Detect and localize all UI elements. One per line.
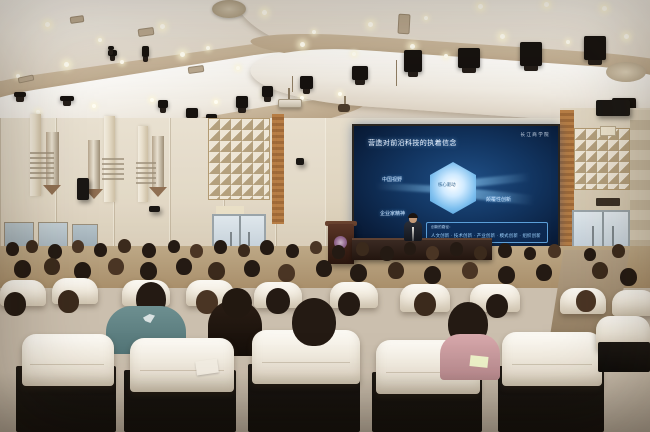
attendee-head [58, 290, 79, 313]
attendee-head [524, 247, 536, 260]
attendee-head [244, 260, 260, 277]
seat-base [598, 342, 650, 372]
auditorium-seat[interactable] [612, 290, 650, 316]
fabric-crease [262, 362, 350, 363]
callout-heading: 创新的路径： [431, 225, 453, 230]
attendee-head [584, 248, 596, 261]
fabric-crease [512, 364, 592, 365]
attendee-head [26, 240, 38, 253]
recessed-downlight [338, 92, 342, 96]
recessed-downlight [300, 42, 305, 47]
stage-spotlight [14, 92, 26, 97]
attendee-head [404, 242, 416, 255]
stage-spotlight [458, 48, 480, 68]
stage-spotlight [158, 100, 168, 108]
auditorium-photo: 营造对前沿科技的执着信念 长江商学院 核心驱动 中国视野 企业家精神 颠覆性创新… [0, 0, 650, 432]
pyramid-acoustic-panel [208, 118, 270, 200]
ceiling [0, 0, 650, 135]
attendee-head [6, 242, 19, 256]
stage-spotlight [236, 96, 248, 108]
recessed-downlight [624, 34, 629, 39]
ceiling-vent [397, 14, 410, 35]
attendee-head [462, 262, 478, 279]
attendee-head [316, 260, 332, 277]
stage-spotlight [352, 66, 368, 80]
attendee-head [260, 240, 274, 255]
auditorium-seat[interactable] [22, 334, 114, 386]
wall-sign-plate [600, 126, 616, 136]
attendee-head [414, 292, 436, 316]
attendee-head [498, 266, 515, 284]
slide-title: 营造对前沿科技的执着信念 [368, 138, 457, 148]
recessed-downlight [160, 24, 165, 29]
attendee-head [388, 262, 404, 279]
hexagon-core-graphic [430, 162, 476, 214]
handout-paper [469, 355, 488, 368]
stage-spotlight [186, 108, 198, 118]
attendee-head [292, 298, 336, 346]
recessed-downlight [180, 52, 185, 57]
attendee-head [474, 246, 487, 260]
recessed-downlight [424, 16, 428, 20]
wall-stripe-detail [30, 152, 54, 182]
auditorium-seat[interactable] [130, 338, 234, 392]
ceiling-projector [278, 99, 302, 108]
attendee-head [620, 268, 637, 286]
attendee-head [168, 240, 180, 253]
attendee-head [380, 246, 394, 261]
wall-sconce [88, 140, 100, 190]
light-hanger-rod [292, 76, 293, 92]
attendee-head [238, 244, 250, 257]
hex-label-top-left: 中国视野 [382, 176, 402, 183]
attendee-head [332, 245, 345, 259]
recessed-downlight [478, 4, 483, 9]
attendee-head [48, 244, 62, 259]
wood-slat-column [272, 114, 284, 224]
stage-spotlight [520, 42, 542, 66]
attendee-head [208, 262, 225, 280]
recessed-downlight [544, 2, 549, 7]
recessed-downlight [45, 22, 50, 27]
attendee-head [536, 264, 552, 281]
attendee-head [176, 258, 192, 275]
attendee-head [108, 258, 124, 275]
exit-sign [596, 198, 620, 206]
ceiling-speaker-grille [212, 0, 246, 18]
light-ray [472, 173, 531, 187]
attendee-head [424, 266, 441, 284]
stage-spotlight [60, 96, 74, 101]
stage-spotlight [300, 76, 313, 89]
recessed-downlight [64, 62, 69, 67]
wall-loudspeaker [149, 206, 160, 212]
slide-logo: 长江商学院 [521, 132, 551, 138]
recessed-downlight [120, 60, 124, 64]
attendee-head [222, 288, 252, 318]
attendee-head [356, 242, 369, 256]
attendee-head [44, 258, 60, 275]
recessed-downlight [92, 104, 96, 108]
wall-stripe-detail [102, 158, 124, 183]
recessed-downlight [262, 10, 267, 15]
attendee-head [426, 246, 439, 260]
stage-spotlight [142, 46, 149, 57]
ceiling-speaker-grille [606, 62, 646, 82]
recessed-downlight [444, 54, 448, 58]
fabric-crease [30, 364, 104, 365]
recessed-downlight [206, 46, 210, 50]
attendee-head [278, 264, 295, 282]
recessed-downlight [236, 66, 240, 70]
attendee-head [72, 240, 84, 253]
recessed-downlight [98, 38, 102, 42]
recessed-downlight [312, 30, 316, 34]
projection-screen[interactable]: 营造对前沿科技的执着信念 长江商学院 核心驱动 中国视野 企业家精神 颠覆性创新… [352, 124, 560, 250]
light-hanger-rod [396, 60, 397, 86]
hex-label-bottom-left: 企业家精神 [380, 210, 405, 217]
recessed-downlight [368, 22, 373, 27]
attendee-head [486, 294, 508, 318]
pyramid-acoustic-panel [574, 128, 630, 190]
attendee-head [142, 243, 156, 258]
attendee-head [548, 244, 561, 258]
stage-spotlight [584, 36, 606, 60]
recessed-downlight [150, 98, 154, 102]
attendee-head [498, 243, 512, 258]
attendee-head [266, 288, 290, 314]
attendee-head [576, 290, 596, 312]
attendee-head [190, 244, 203, 258]
light-ray [376, 183, 432, 193]
wall-loudspeaker [596, 100, 630, 116]
attendee-head [350, 264, 367, 282]
door-sign-plate [216, 206, 244, 214]
wall-loudspeaker [296, 158, 304, 165]
hex-label-right: 颠覆性创新 [486, 196, 511, 203]
presenter-hair [408, 213, 418, 218]
attendee-head [94, 243, 107, 257]
recessed-downlight [602, 6, 607, 11]
attendee-head [592, 262, 608, 279]
audience-area [0, 238, 650, 432]
attendee-head [140, 262, 157, 280]
recessed-downlight [352, 52, 356, 56]
ceiling-projector [338, 104, 350, 112]
stage-spotlight [108, 46, 114, 50]
attendee-head [4, 292, 26, 316]
recessed-downlight [500, 34, 505, 39]
stage-spotlight [404, 50, 422, 72]
attendee-head [214, 240, 227, 254]
wall-stripe-detail [136, 162, 156, 187]
recessed-downlight [410, 44, 415, 49]
hex-center-label: 核心驱动 [438, 182, 456, 188]
recessed-downlight [214, 100, 218, 104]
attendee-head [118, 239, 131, 253]
recessed-downlight [566, 40, 570, 44]
attendee-head [450, 242, 463, 256]
auditorium-seat[interactable] [502, 332, 602, 386]
attendee-head [310, 241, 322, 254]
stage-spotlight [262, 86, 273, 97]
attendee-head [14, 260, 31, 278]
attendee-head [286, 244, 299, 258]
attendee-head [612, 244, 625, 258]
attendee-head [338, 292, 360, 316]
wall-loudspeaker [77, 178, 89, 200]
